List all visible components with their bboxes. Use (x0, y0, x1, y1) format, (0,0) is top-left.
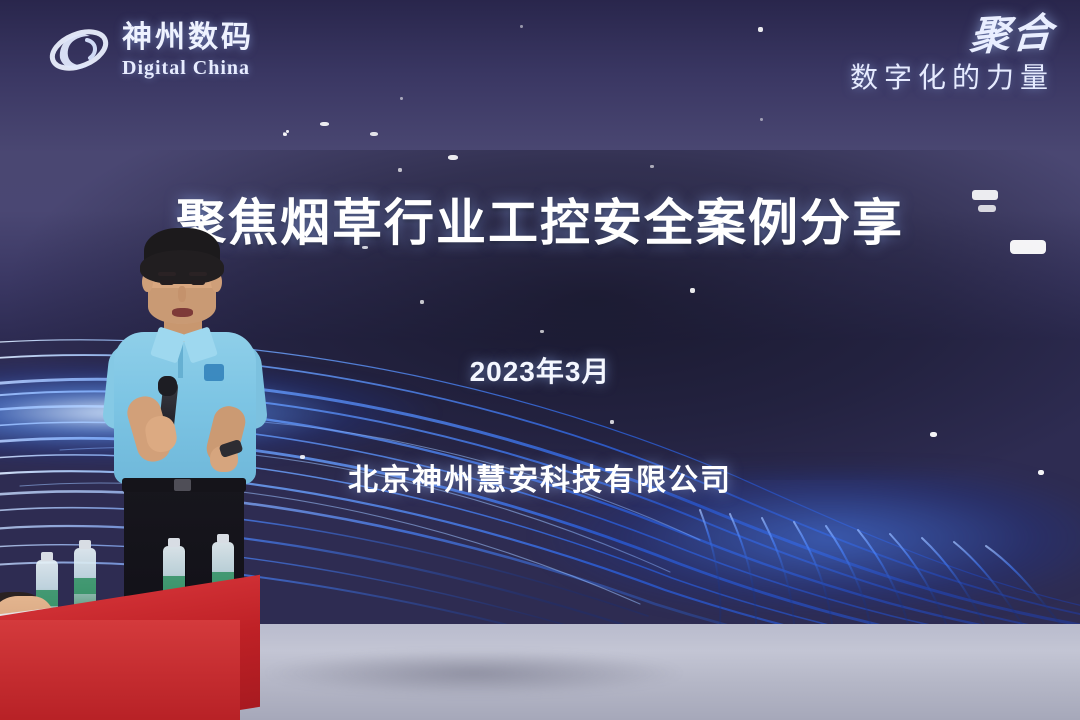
speaker (92, 228, 282, 628)
speaker-eye-right (191, 280, 205, 285)
bottle-label (74, 578, 96, 594)
particle-dot (448, 155, 458, 160)
particle-dot (283, 133, 287, 136)
particle-dot (286, 130, 289, 133)
bottle-cap (41, 552, 53, 561)
table-skirt-front (0, 620, 240, 720)
bottle-cap (217, 534, 229, 543)
speaker-eye-left (160, 280, 174, 285)
bottle-cap (79, 540, 91, 549)
particle-dot (690, 288, 695, 293)
digital-china-logo: 神州数码 Digital China (46, 22, 254, 78)
particle-dot (930, 432, 937, 437)
speaker-mouth (172, 308, 193, 317)
particle-dot (370, 132, 378, 136)
particle-dot (650, 165, 654, 168)
speaker-belt-buckle (174, 479, 191, 491)
bottle-cap (168, 538, 180, 547)
particle-dot (400, 97, 403, 100)
slogan-calligraphy: 聚合 (968, 14, 1055, 56)
logo-text-en: Digital China (122, 58, 254, 78)
speaker-chest-logo (204, 364, 224, 381)
logo-text-cn: 神州数码 (122, 23, 254, 53)
speaker-eyebrow-right (189, 272, 207, 276)
particle-dot (610, 420, 614, 424)
particle-dot (540, 330, 544, 333)
slogan-subtitle: 数字化的力量 (850, 56, 1054, 96)
microphone-head (158, 376, 177, 396)
speaker-eyebrow-left (158, 272, 176, 276)
particle-dot (520, 25, 523, 28)
particle-dot (760, 118, 763, 121)
speaker-nose (178, 286, 186, 302)
particle-dot (320, 122, 329, 126)
particle-dot (398, 168, 402, 172)
event-slogan: 聚合 数字化的力量 (850, 16, 1054, 96)
speaker-hair-fringe (140, 250, 224, 284)
particle-dot (758, 27, 763, 32)
conference-photo: 神州数码 Digital China 聚合 数字化的力量 聚焦烟草行业工控安全案… (0, 0, 1080, 720)
particle-dot (420, 300, 424, 304)
digital-china-swirl-icon (46, 22, 112, 78)
floor-shadow (250, 648, 810, 698)
